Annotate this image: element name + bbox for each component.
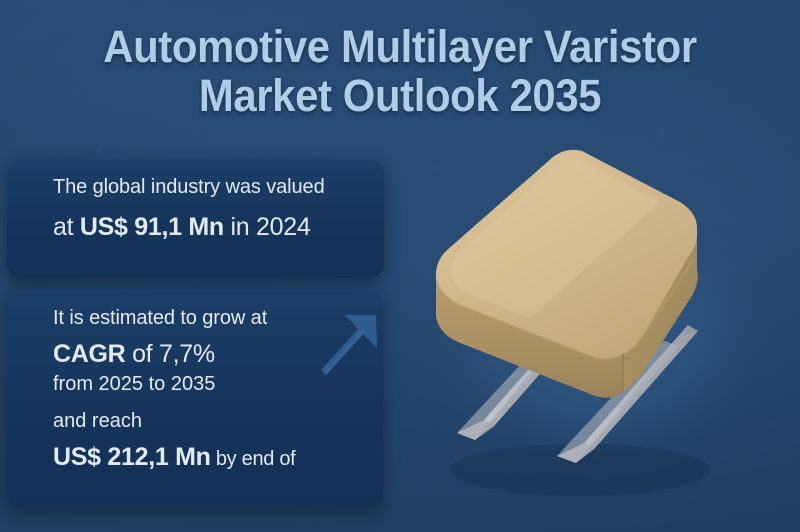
infographic-canvas: Automotive Multilayer Varistor Market Ou… (0, 0, 800, 532)
valuation-value: US$ 91,1 Mn (80, 213, 224, 241)
growth-forecast-line: US$ 212,1 Mn by end of (53, 441, 375, 474)
growth-forecast-suffix: by end of (211, 448, 296, 470)
valuation-card-body: The global industry was valued at US$ 91… (53, 174, 376, 244)
arrow-up-right-icon (320, 309, 382, 379)
growth-cagr-value: of 7,7% (125, 340, 214, 368)
valuation-card: The global industry was valued at US$ 91… (7, 160, 384, 278)
varistor-illustration (380, 120, 800, 532)
growth-cagr-label: CAGR (53, 340, 125, 368)
valuation-line-2: at US$ 91,1 Mn in 2024 (53, 211, 376, 244)
valuation-suffix: in 2024 (224, 213, 311, 241)
growth-forecast-value: US$ 212,1 Mn (53, 443, 211, 471)
growth-reach-label: and reach (53, 408, 375, 434)
valuation-prefix: at (53, 213, 80, 241)
page-title-line-1: Automotive Multilayer Varistor (28, 22, 772, 71)
page-title: Automotive Multilayer Varistor Market Ou… (28, 22, 772, 120)
valuation-line-1: The global industry was valued (53, 174, 376, 200)
page-title-line-2: Market Outlook 2035 (28, 71, 772, 120)
